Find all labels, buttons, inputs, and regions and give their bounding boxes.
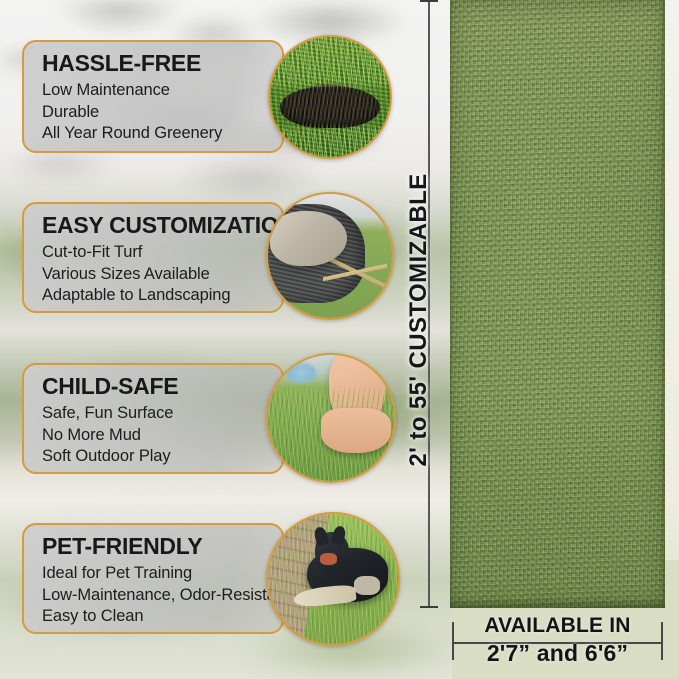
length-dimension-cap-top <box>420 0 438 2</box>
feature-photo-child-hand <box>266 353 396 483</box>
feature-line: Low Maintenance <box>42 80 282 102</box>
feature-bullets: Low Maintenance Durable All Year Round G… <box>42 80 282 145</box>
turf-edge-bottom <box>450 598 665 608</box>
feature-bullets: Ideal for Pet Training Low-Maintenance, … <box>42 563 282 628</box>
feature-line: Safe, Fun Surface <box>42 403 282 425</box>
feature-bullets: Cut-to-Fit Turf Various Sizes Available … <box>42 242 282 307</box>
feature-photo-turf-roll <box>268 35 392 159</box>
feature-title: EASY CUSTOMIZATION <box>42 213 282 238</box>
feature-photo-dog <box>266 512 400 646</box>
feature-line: Durable <box>42 102 282 124</box>
feature-line: Cut-to-Fit Turf <box>42 242 282 264</box>
turf-edge-right <box>660 0 665 608</box>
feature-bullets: Safe, Fun Surface No More Mud Soft Outdo… <box>42 403 282 468</box>
feature-line: Easy to Clean <box>42 606 282 628</box>
feature-card-hassle-free: HASSLE-FREE Low Maintenance Durable All … <box>22 40 284 153</box>
feature-line: Ideal for Pet Training <box>42 563 282 585</box>
feature-title: CHILD-SAFE <box>42 374 282 399</box>
length-dimension-label: 2' to 55' CUSTOMIZABLE <box>405 160 433 480</box>
feature-line: Adaptable to Landscaping <box>42 285 282 307</box>
turf-edge-left <box>450 0 453 608</box>
feature-line: Soft Outdoor Play <box>42 446 282 468</box>
available-in-values: 2'7” and 6'6” <box>452 640 663 666</box>
feature-line: No More Mud <box>42 425 282 447</box>
feature-title: HASSLE-FREE <box>42 51 282 76</box>
turf-panel-image <box>450 0 665 608</box>
feature-line: Low-Maintenance, Odor-Resistant <box>42 585 282 607</box>
feature-card-easy-customization: EASY CUSTOMIZATION Cut-to-Fit Turf Vario… <box>22 202 284 313</box>
width-dimension-label: AVAILABLE IN 2'7” and 6'6” <box>452 614 663 666</box>
feature-line: All Year Round Greenery <box>42 123 282 145</box>
feature-card-child-safe: CHILD-SAFE Safe, Fun Surface No More Mud… <box>22 363 284 474</box>
product-infographic: HASSLE-FREE Low Maintenance Durable All … <box>0 0 679 679</box>
length-dimension-cap-bottom <box>420 606 438 608</box>
feature-title: PET-FRIENDLY <box>42 534 282 559</box>
feature-photo-hands-rolling-turf <box>266 192 394 320</box>
available-in-heading: AVAILABLE IN <box>452 614 663 637</box>
feature-line: Various Sizes Available <box>42 264 282 286</box>
feature-card-pet-friendly: PET-FRIENDLY Ideal for Pet Training Low-… <box>22 523 284 634</box>
